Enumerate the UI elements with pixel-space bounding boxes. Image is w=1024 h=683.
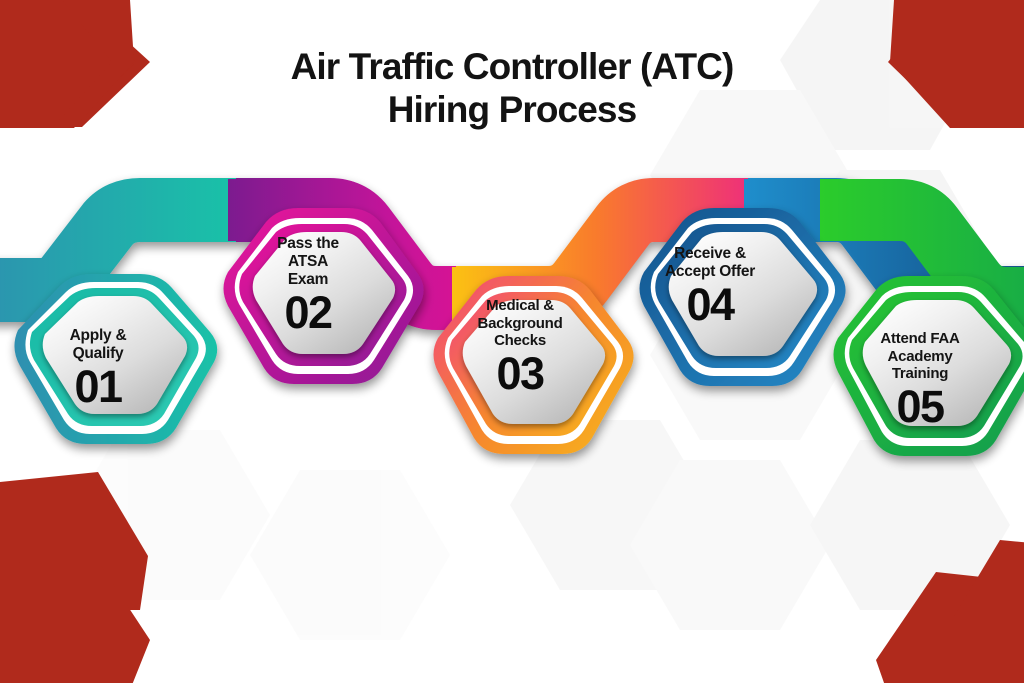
step-2-number: 02	[228, 291, 388, 335]
step-5-number: 05	[840, 385, 1000, 429]
step-4-label: Receive &Accept Offer	[630, 245, 790, 281]
steps-overlay: Apply &Qualify 01 Pass theATSAExam 02 Me…	[0, 0, 1024, 683]
step-5-content[interactable]: Attend FAAAcademyTraining 05	[840, 330, 1000, 429]
step-4-number: 04	[630, 283, 790, 327]
step-3-label: Medical &BackgroundChecks	[440, 297, 600, 350]
step-4-content[interactable]: Receive &Accept Offer 04	[630, 245, 790, 327]
step-1-content[interactable]: Apply &Qualify 01	[18, 327, 178, 409]
step-1-number: 01	[18, 365, 178, 409]
step-2-label: Pass theATSAExam	[228, 235, 388, 289]
step-3-content[interactable]: Medical &BackgroundChecks 03	[440, 297, 600, 396]
step-3-number: 03	[440, 352, 600, 396]
step-1-label: Apply &Qualify	[18, 327, 178, 363]
step-5-label: Attend FAAAcademyTraining	[840, 330, 1000, 383]
step-2-content[interactable]: Pass theATSAExam 02	[228, 235, 388, 335]
infographic-canvas: Air Traffic Controller (ATC) Hiring Proc…	[0, 0, 1024, 683]
